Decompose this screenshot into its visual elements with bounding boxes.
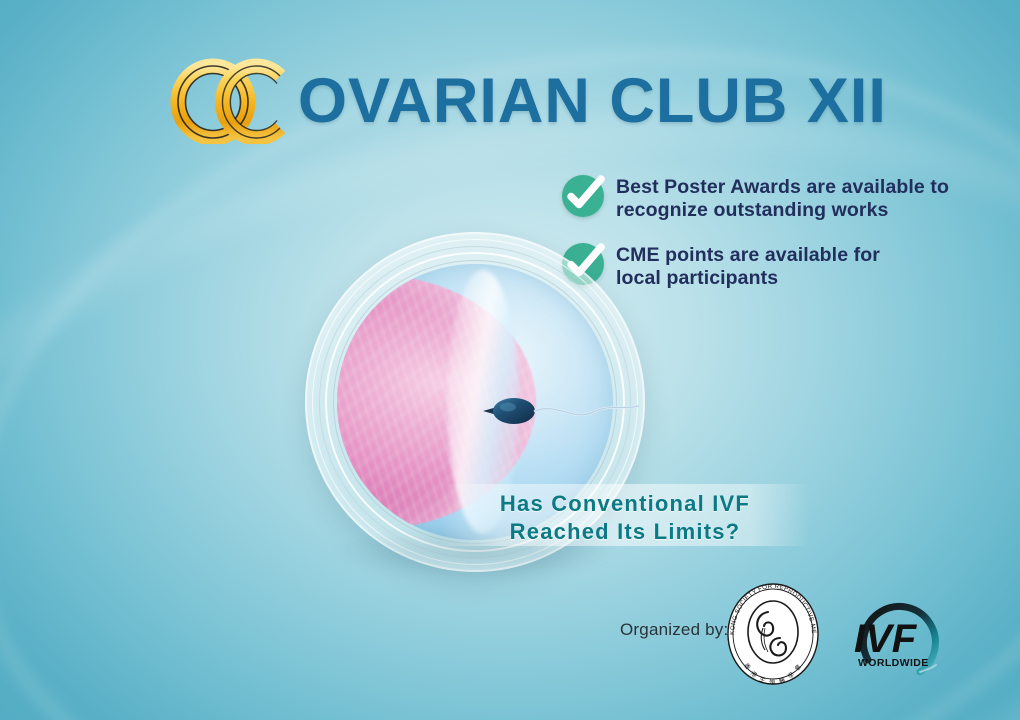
list-item-line2: recognize outstanding works xyxy=(616,199,949,222)
ivf-logo-primary-text: IVF xyxy=(854,617,918,661)
ivf-logo-secondary-text: WORLDWIDE xyxy=(858,657,929,669)
list-item-line2: local participants xyxy=(616,267,880,290)
tagline: Has Conventional IVF Reached Its Limits? xyxy=(440,490,810,546)
hong-kong-society-reproductive-medicine-logo: HONG KONG SOCIETY FOR REPRODUCTIVE MEDIC… xyxy=(724,582,822,686)
tagline-line2: Reached Its Limits? xyxy=(440,518,810,546)
sperm-illustration xyxy=(481,382,641,442)
poster-canvas: OVARIAN CLUB XII Best Poster Awards are … xyxy=(0,0,1020,720)
list-item-line1: Best Poster Awards are available to xyxy=(616,176,949,199)
list-item-line1: CME points are available for xyxy=(616,244,880,267)
list-item-text: Best Poster Awards are available to reco… xyxy=(616,172,949,222)
check-circle-icon xyxy=(560,172,606,218)
ivf-worldwide-logo: IVF WORLDWIDE xyxy=(846,586,950,686)
list-item-text: CME points are available for local parti… xyxy=(616,240,880,290)
poster-header: OVARIAN CLUB XII xyxy=(168,58,887,144)
list-item: Best Poster Awards are available to reco… xyxy=(560,172,990,222)
organized-by-label: Organized by: xyxy=(620,620,728,640)
tagline-line1: Has Conventional IVF xyxy=(440,490,810,518)
ovarian-club-monogram-icon xyxy=(168,58,296,144)
page-title: OVARIAN CLUB XII xyxy=(298,70,887,133)
